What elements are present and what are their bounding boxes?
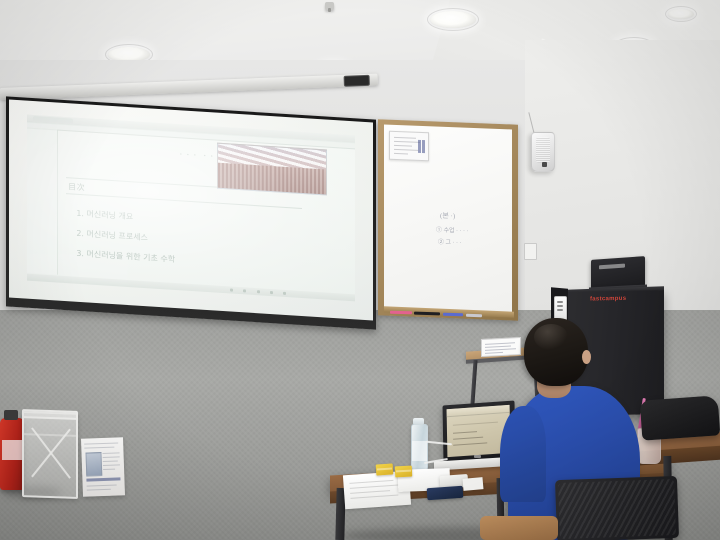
snack-pack-1[interactable] — [376, 463, 394, 475]
whiteboard-handwriting-3: ② 그 · · · — [438, 237, 462, 247]
slide-taskbar — [27, 274, 355, 302]
poster-bar — [86, 477, 120, 481]
poster-line — [103, 469, 115, 470]
poster-line — [87, 489, 111, 491]
umbrella-stand — [22, 411, 78, 499]
notice-line — [394, 145, 412, 147]
ceiling-light-3 — [430, 11, 476, 28]
hair-highlight — [534, 324, 568, 350]
eraser[interactable] — [466, 314, 482, 317]
taskbar-dot — [283, 292, 286, 295]
laptop-text-line — [453, 437, 483, 440]
lecture-room-photo: ・・・ ・・ 目次 1. 머신러닝 개요 2. 머신러닝 프로세스 3. 머신러… — [0, 0, 720, 540]
sign-line — [485, 342, 515, 345]
notice-line — [394, 141, 420, 143]
taskbar-dot — [230, 289, 233, 292]
poster-line — [84, 447, 114, 449]
slide-bullet-2: 2. 머신러닝 프로세스 — [76, 227, 148, 243]
floor-notice-poster — [81, 437, 125, 496]
paper-line — [350, 490, 390, 494]
speaker-grille — [536, 137, 550, 163]
slide-section-title: 目次 — [68, 181, 85, 193]
ceiling-light-rim — [427, 8, 479, 31]
chair-mesh-texture — [558, 479, 676, 539]
blue-marker[interactable] — [443, 313, 463, 317]
slide-faint-header: ・・・ ・・ — [178, 149, 216, 160]
laptop-text-line — [453, 431, 477, 434]
taskbar-dot — [257, 290, 260, 293]
poster-line — [87, 485, 117, 487]
taskbar-dot — [243, 289, 246, 292]
ceiling-light-6 — [668, 9, 694, 19]
wall-outlet[interactable] — [524, 243, 537, 260]
podium-laptop-brand — [599, 264, 625, 270]
remote-button[interactable] — [557, 305, 563, 307]
remote-button[interactable] — [557, 301, 563, 303]
table-notice-card — [481, 337, 521, 357]
remote-button[interactable] — [557, 309, 563, 311]
slide-bullet-1: 1. 머신러닝 개요 — [76, 207, 133, 222]
slide-sidebar — [27, 128, 57, 275]
laptop-text-line — [453, 422, 498, 426]
poster-image — [85, 452, 102, 477]
slide-video-thumbnail — [217, 143, 327, 195]
extinguisher-valve — [4, 410, 18, 420]
taskbar-dot — [270, 291, 273, 294]
laptop-text-line — [453, 442, 487, 445]
smartphone[interactable] — [427, 486, 464, 500]
stand-crossbar — [24, 433, 76, 437]
projected-slide: ・・・ ・・ 目次 1. 머신러닝 개요 2. 머신러닝 프로세스 3. 머신러… — [27, 115, 355, 302]
person-left-shoulder — [500, 406, 546, 502]
whiteboard-handwriting-1: (본 ·) — [440, 211, 455, 222]
sign-line — [485, 348, 516, 351]
notice-graphic — [422, 140, 425, 153]
paper-line — [350, 495, 398, 499]
chair-seat[interactable] — [480, 516, 558, 540]
bottle-cap[interactable] — [413, 418, 424, 425]
notice-line — [394, 149, 418, 151]
poster-line — [103, 456, 120, 458]
extinguisher-label — [2, 440, 21, 460]
slide-bullet-3: 3. 머신러닝을 위한 기초 수학 — [76, 247, 175, 264]
chair-backrest[interactable] — [555, 476, 679, 540]
sprinkler-icon — [325, 2, 334, 10]
wall-speaker — [531, 132, 555, 172]
projector-screen-surface: ・・・ ・・ 目次 1. 머신러닝 개요 2. 머신러닝 프로세스 3. 머신러… — [9, 100, 373, 321]
notice-graphic — [418, 140, 421, 153]
poster-line — [103, 464, 120, 466]
laptop-brand-logo — [474, 455, 481, 458]
umbrella-stand-rim — [22, 409, 78, 420]
notice-line — [394, 153, 408, 155]
snack-pack-2[interactable] — [395, 466, 413, 478]
sign-line — [485, 352, 503, 354]
speaker-badge — [542, 162, 547, 167]
screen-housing-knob — [344, 75, 370, 87]
water-bottle[interactable] — [411, 424, 428, 472]
fire-extinguisher[interactable] — [0, 418, 24, 490]
pink-marker[interactable] — [390, 311, 412, 315]
poster-line — [103, 460, 118, 462]
whiteboard-notice — [389, 131, 429, 162]
paper-line — [349, 480, 393, 484]
podium-brand-logo: fastcampus — [590, 296, 626, 303]
person-ear — [582, 350, 591, 364]
poster-line — [84, 442, 118, 444]
slide-rule-bottom — [66, 193, 302, 209]
whiteboard-surface: (본 ·) ① 수업 · · · · ② 그 · · · — [384, 125, 512, 314]
ceiling-light-rim — [665, 6, 697, 22]
sign-line — [485, 345, 511, 347]
poster-line — [103, 452, 120, 454]
paper-line — [350, 484, 400, 488]
notice-line — [394, 137, 416, 139]
backpack[interactable] — [640, 395, 720, 440]
small-note[interactable] — [463, 477, 484, 491]
bottle-label — [412, 441, 427, 461]
whiteboard-handwriting-2: ① 수업 · · · · — [436, 225, 469, 235]
